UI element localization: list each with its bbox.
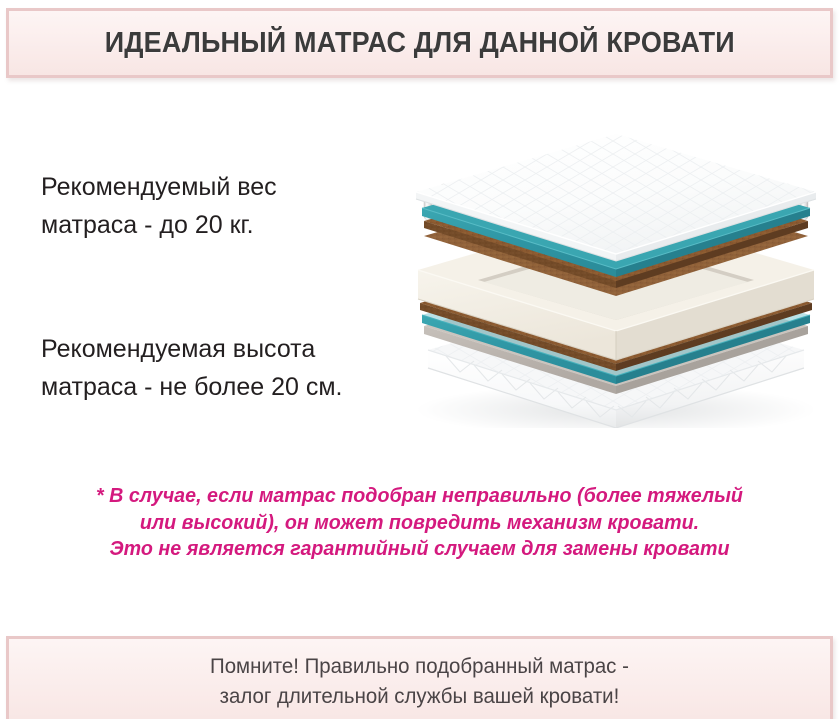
recommended-height-text: Рекомендуемая высота матраса - не более …	[41, 330, 441, 406]
promo-infographic: ИДЕАЛЬНЫЙ МАТРАС ДЛЯ ДАННОЙ КРОВАТИ Реко…	[0, 0, 839, 719]
recommended-weight-text: Рекомендуемый вес матраса - до 20 кг.	[41, 168, 441, 244]
header-banner: ИДЕАЛЬНЫЙ МАТРАС ДЛЯ ДАННОЙ КРОВАТИ	[6, 8, 833, 78]
footer-note: Помните! Правильно подобранный матрас - …	[210, 651, 629, 711]
page-title: ИДЕАЛЬНЫЙ МАТРАС ДЛЯ ДАННОЙ КРОВАТИ	[104, 27, 734, 60]
footer-banner: Помните! Правильно подобранный матрас - …	[6, 636, 833, 719]
warning-note: * В случае, если матрас подобран неправи…	[36, 483, 803, 563]
exploded-mattress-diagram	[404, 128, 828, 428]
